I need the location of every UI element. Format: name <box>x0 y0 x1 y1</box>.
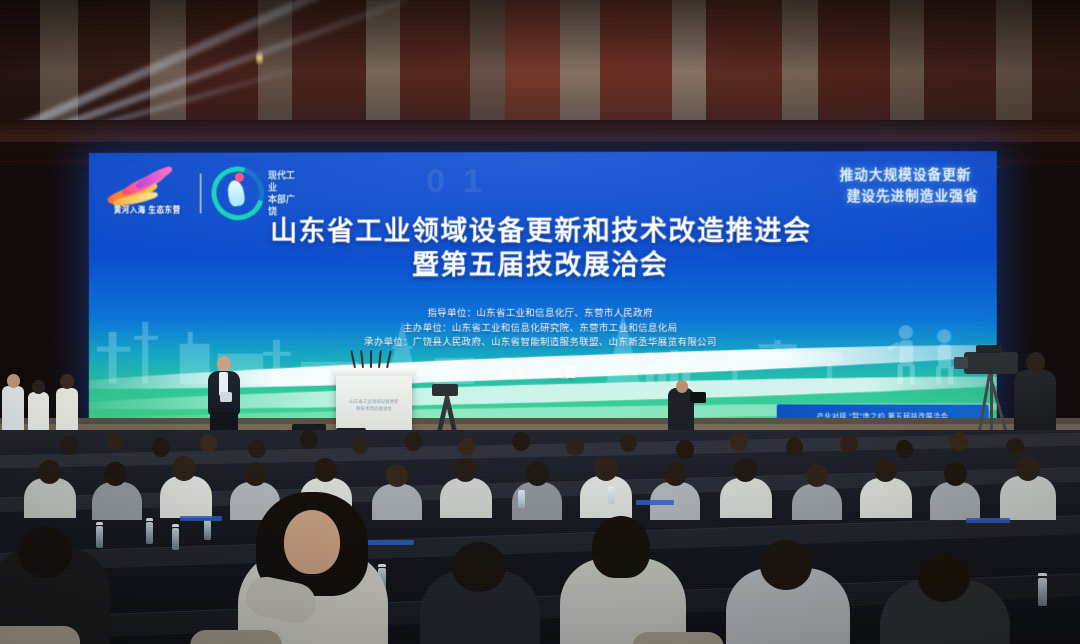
audience-head <box>404 432 422 451</box>
audience-head <box>458 438 475 456</box>
audience-head <box>244 462 267 486</box>
table-document <box>636 500 674 505</box>
water-bottle <box>146 522 153 544</box>
main-title-line1: 山东省工业领域设备更新和技术改造推进会 <box>89 214 997 249</box>
audience-member <box>580 476 632 518</box>
calligraphy-line1: 推动大规模设备更新 <box>833 165 979 186</box>
floor-camera-body <box>690 392 706 403</box>
audience-head <box>566 438 584 456</box>
table-document <box>180 516 222 521</box>
floor-camera-operator-head <box>676 380 688 393</box>
foreground-attendee-woman-face <box>284 510 340 574</box>
screen-calligraphy-slogan: 推动大规模设备更新 建设先进制造业强省 <box>833 165 979 207</box>
audience-head <box>1016 456 1040 481</box>
main-title-line2: 暨第五届技改展洽会 <box>89 248 997 282</box>
speaker-on-stage <box>206 356 242 434</box>
podium-signage: 山东省工业领域设备更新 和技术改造推进会 <box>336 398 412 412</box>
screen-logos: 黄河入海 生态东营 现代工业 本部广饶 <box>105 166 303 220</box>
audience-head <box>786 438 803 456</box>
audience-head <box>840 434 858 453</box>
audience-head <box>454 458 477 482</box>
audience-head <box>594 456 618 481</box>
audience-head <box>896 440 913 458</box>
bottle-cap <box>378 564 386 567</box>
audience-chair <box>190 630 282 644</box>
audience-head <box>944 462 967 486</box>
audience-head <box>950 432 968 451</box>
logo-divider <box>200 174 202 214</box>
guangrao-logo-line1: 现代工业 <box>268 169 303 193</box>
broadcast-camera-lens <box>954 357 968 369</box>
camera-on-tripod-small <box>432 384 458 396</box>
water-bottle <box>172 528 179 550</box>
podium-top-surface <box>331 366 417 376</box>
bottle-cap <box>96 522 103 525</box>
audience-head <box>352 436 369 454</box>
audience-head <box>806 464 828 487</box>
foreground-attendee-right-head <box>592 516 650 578</box>
audience-member <box>930 482 980 520</box>
audience-head <box>200 434 217 452</box>
audience-head <box>512 432 530 451</box>
audience-member <box>372 484 422 520</box>
audience-head <box>526 462 549 486</box>
standing-staff-2-head <box>32 380 45 394</box>
audience-member <box>440 478 492 518</box>
audience-head <box>734 458 757 482</box>
audience-head <box>386 464 408 487</box>
audience-chair <box>632 632 724 644</box>
audience-head <box>676 440 694 459</box>
audience-head <box>248 440 266 458</box>
audience-head <box>172 456 196 481</box>
broadcast-camera-viewfinder <box>976 345 1002 353</box>
water-bottle <box>204 520 211 540</box>
audience-head <box>300 430 318 449</box>
tripod-leg-3 <box>990 374 993 436</box>
conference-photo: 01 黄河入海 生态东营 现代工业 本部广饶 推动大规模设备更新 建设先进制造业… <box>0 0 1080 644</box>
audience-chair <box>0 626 80 644</box>
audience-member <box>860 478 912 518</box>
water-bottle <box>518 490 525 508</box>
foreground-attendee-left-head <box>18 526 72 578</box>
screen-watermark: 01 <box>426 162 500 201</box>
audience-head <box>104 462 127 486</box>
camera-operator-head <box>1026 352 1045 373</box>
audience-head <box>60 436 78 455</box>
audience-member <box>1000 476 1056 520</box>
audience-table-row-3 <box>0 514 1080 574</box>
audience-member <box>720 478 772 518</box>
audience-head <box>38 460 61 484</box>
screen-title-block: 山东省工业领域设备更新和技术改造推进会 暨第五届技改展洽会 <box>89 214 997 283</box>
bottle-cap <box>1038 573 1047 576</box>
bottle-cap <box>172 524 179 527</box>
table-document <box>364 540 414 545</box>
audience-member <box>92 482 142 520</box>
audience-head <box>152 438 170 457</box>
stage-podium: 山东省工业领域设备更新 和技术改造推进会 <box>336 372 412 436</box>
audience-head <box>106 432 123 450</box>
audience-member <box>792 484 842 520</box>
table-document <box>966 518 1010 523</box>
water-bottle <box>96 526 103 548</box>
audience-head <box>730 432 748 451</box>
audience-member <box>160 476 212 518</box>
audience-head <box>874 458 897 482</box>
guangrao-industry-logo-icon: 现代工业 本部广饶 <box>212 166 303 220</box>
foreground-attendee-edge-head <box>918 554 970 602</box>
podium-text-line1: 山东省工业领域设备更新 <box>336 398 412 405</box>
podium-microphone-3 <box>370 350 372 368</box>
audience-head <box>314 458 337 482</box>
audience-area <box>0 430 1080 644</box>
audience-member <box>24 478 76 518</box>
audience-head <box>620 434 637 452</box>
foreground-attendee-far-right-head <box>760 540 812 590</box>
audience-head <box>1006 438 1024 456</box>
water-bottle <box>1038 578 1047 606</box>
podium-text-line2: 和技术改造推进会 <box>336 405 412 412</box>
tripod-leg-1 <box>977 374 991 437</box>
audience-head <box>664 462 687 486</box>
standing-staff-3-head <box>60 374 74 389</box>
bottle-cap <box>146 518 153 521</box>
wall-sconce <box>256 48 263 68</box>
broadcast-camera-body <box>964 352 1018 374</box>
calligraphy-line2: 建设先进制造业强省 <box>847 186 979 207</box>
dongying-city-logo-icon: 黄河入海 生态东营 <box>105 167 190 221</box>
water-bottle <box>608 486 615 504</box>
standing-staff-1-head <box>7 374 20 388</box>
foreground-attendee-mid-head <box>452 542 506 592</box>
